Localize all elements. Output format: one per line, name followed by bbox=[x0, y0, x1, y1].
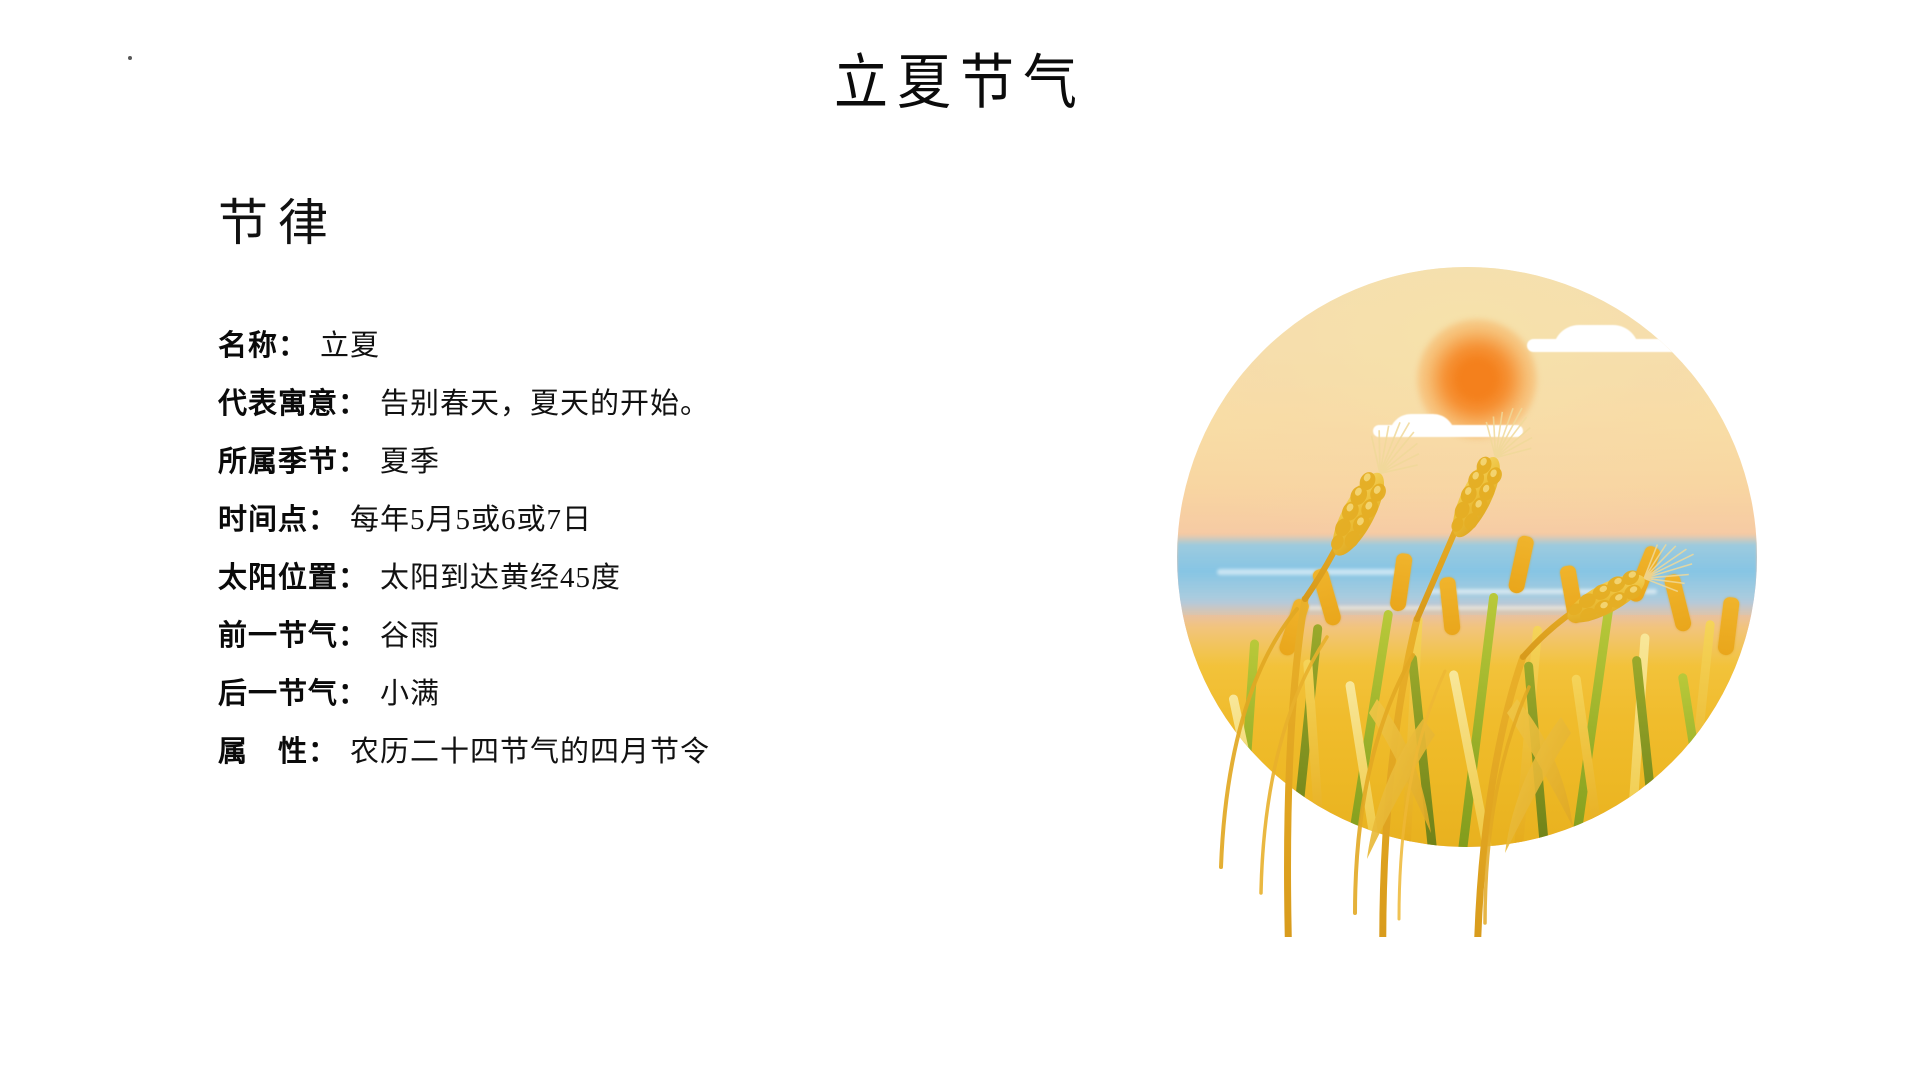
info-value: 太阳到达黄经45度 bbox=[380, 554, 621, 596]
slide-canvas: 立夏节气 节律 名称： 立夏 代表寓意： 告别春天，夏天的开始。 所属季节： 夏… bbox=[0, 0, 1920, 1080]
info-label: 所属季节： bbox=[218, 438, 368, 480]
page-title: 立夏节气 bbox=[0, 48, 1920, 119]
section-heading: 节律 bbox=[218, 195, 338, 253]
info-label: 时间点： bbox=[218, 496, 338, 538]
info-list: 名称： 立夏 代表寓意： 告别春天，夏天的开始。 所属季节： 夏季 时间点： 每… bbox=[218, 322, 998, 786]
seasonal-illustration bbox=[1177, 267, 1757, 847]
info-label: 代表寓意： bbox=[218, 380, 368, 422]
info-value: 谷雨 bbox=[380, 612, 440, 654]
list-item: 太阳位置： 太阳到达黄经45度 bbox=[218, 554, 998, 612]
info-label: 太阳位置： bbox=[218, 554, 368, 596]
field-blades bbox=[1177, 267, 1757, 847]
info-label: 后一节气： bbox=[218, 670, 368, 712]
info-value: 每年5月5或6或7日 bbox=[350, 496, 592, 538]
info-value: 小满 bbox=[380, 670, 440, 712]
list-item: 时间点： 每年5月5或6或7日 bbox=[218, 496, 998, 554]
info-label: 前一节气： bbox=[218, 612, 368, 654]
info-value: 告别春天，夏天的开始。 bbox=[380, 380, 710, 422]
info-value: 夏季 bbox=[380, 438, 440, 480]
list-item: 属 性： 农历二十四节气的四月节令 bbox=[218, 728, 998, 786]
list-item: 后一节气： 小满 bbox=[218, 670, 998, 728]
list-item: 前一节气： 谷雨 bbox=[218, 612, 998, 670]
info-label: 名称： bbox=[218, 322, 308, 364]
info-value: 立夏 bbox=[320, 322, 380, 364]
list-item: 代表寓意： 告别春天，夏天的开始。 bbox=[218, 380, 998, 438]
info-label: 属 性： bbox=[218, 728, 338, 770]
list-item: 所属季节： 夏季 bbox=[218, 438, 998, 496]
list-item: 名称： 立夏 bbox=[218, 322, 998, 380]
illustration-circle-mask bbox=[1177, 267, 1757, 847]
info-value: 农历二十四节气的四月节令 bbox=[350, 728, 710, 770]
